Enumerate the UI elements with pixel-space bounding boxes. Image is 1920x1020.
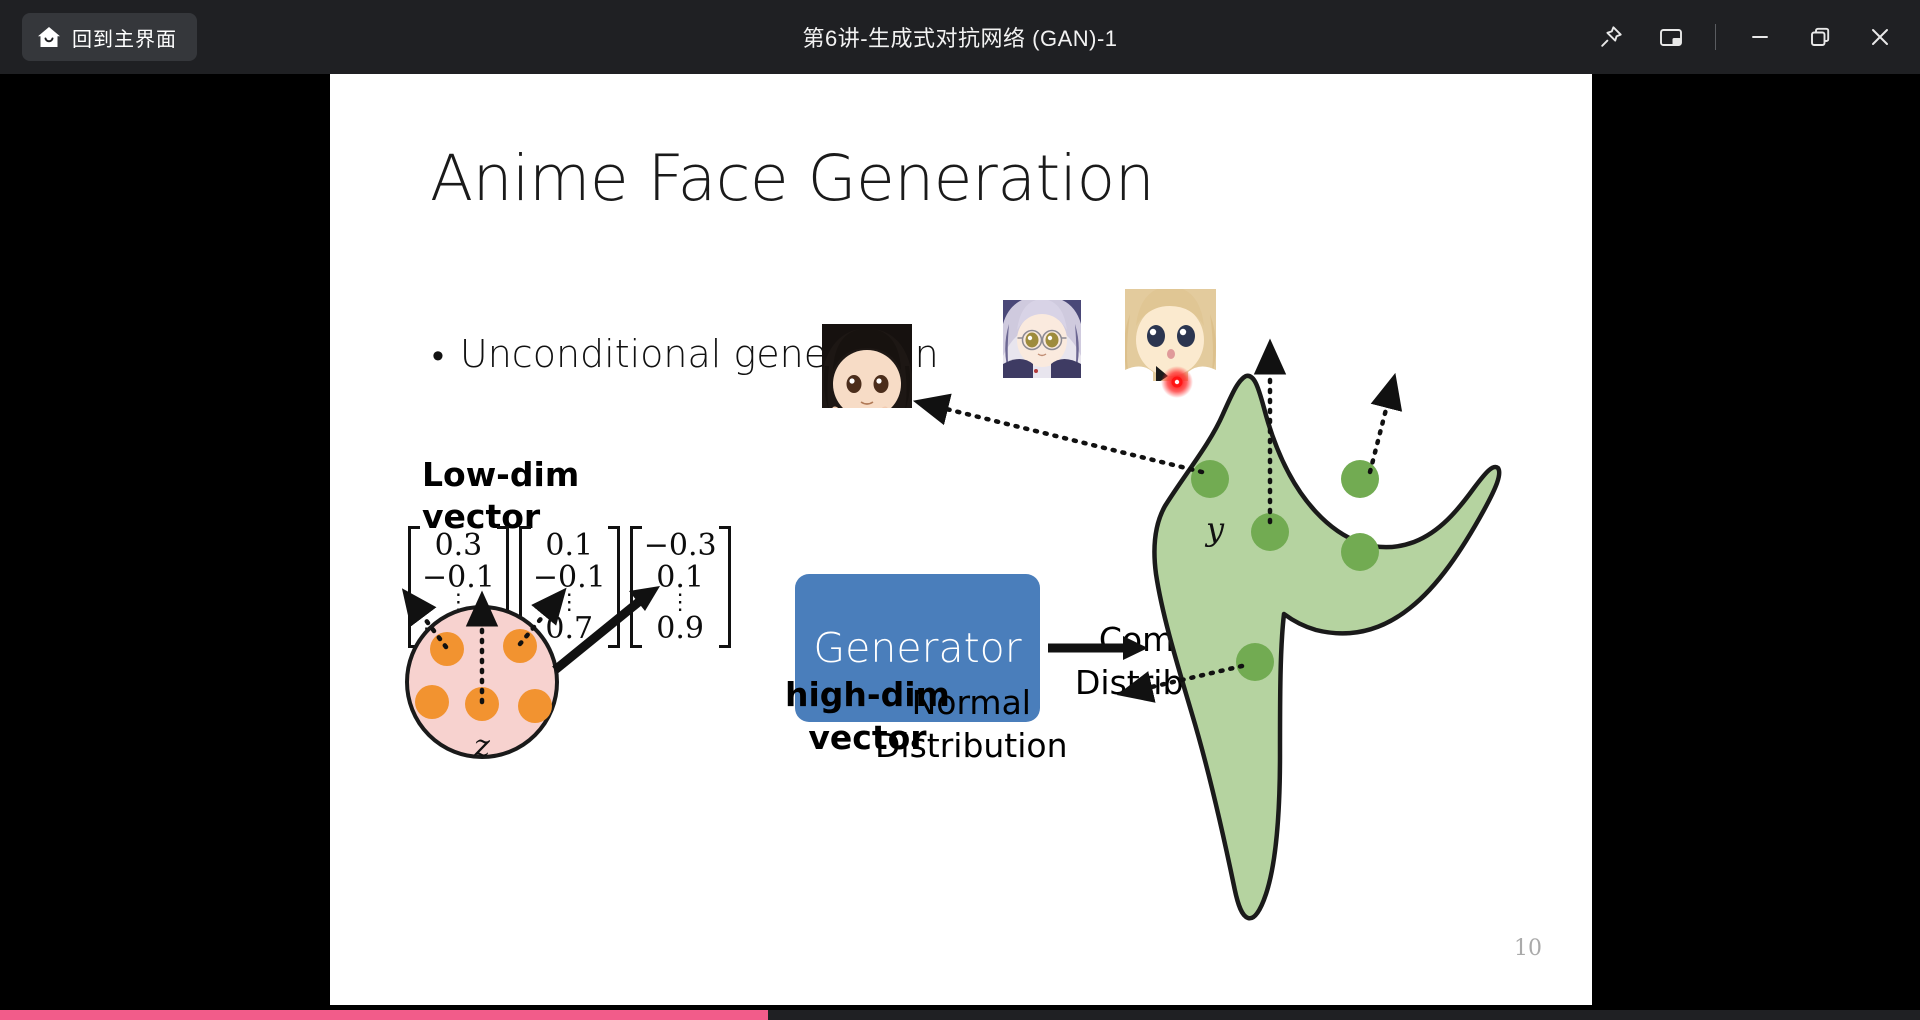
vector-3-value-1: −0.3 [644,530,717,562]
normal-sample-dot [415,685,449,719]
normal-sample-dot [518,689,552,723]
restore-icon[interactable] [1790,5,1850,69]
anime-face-thumb-2 [1003,296,1081,378]
vector-1-value-1: 0.3 [435,530,483,562]
close-icon[interactable] [1850,5,1910,69]
complex-sample-dot [1341,533,1379,571]
app-root: 回到主界面 第6讲-生成式对抗网络 (GAN)-1 [0,0,1920,1020]
latent-vector-3: −0.3 0.1 ⋮ 0.9 [630,526,731,648]
slide-bullet: • Unconditional generation [432,332,939,376]
slide-title: Anime Face Generation [430,142,1154,215]
latent-vector-group: 0.3 −0.1 ⋮ −0.7 0.1 −0.1 ⋮ 0.7 −0.3 0.1 … [408,526,731,648]
slide-viewport[interactable]: Anime Face Generation • Unconditional ge… [330,74,1592,1005]
home-button[interactable]: 回到主界面 [22,13,197,61]
slide-page-number: 10 [1514,936,1542,961]
high-dim-vector-label: high-dim vector [785,674,950,760]
vector-2-value-2: −0.1 [533,562,606,594]
vector-1-value-4: −0.7 [422,613,495,645]
normal-sample-dot [465,687,499,721]
minimize-icon[interactable] [1730,5,1790,69]
y-symbol-label: y [1204,510,1225,548]
vector-3-value-4: 0.9 [656,613,704,645]
complex-sample-dot [1251,513,1289,551]
bullet-text: Unconditional generation [460,332,939,376]
playback-progress-fill [0,1010,768,1020]
vector-1-value-3: ⋮ [447,593,469,613]
vector-2-value-4: 0.7 [545,613,593,645]
titlebar-separator [1715,24,1716,50]
complex-distribution-line-1: Complex [1075,619,1268,662]
vector-3-value-2: 0.1 [656,562,704,594]
vector-2-value-1: 0.1 [545,530,593,562]
picture-in-picture-icon[interactable] [1641,5,1701,69]
low-dim-line-1: Low-dim [422,454,579,496]
vector-2-value-3: ⋮ [558,593,580,613]
high-dim-line-1: high-dim [785,674,950,717]
window-controls [1581,0,1920,74]
laser-pointer-dot [1161,366,1193,398]
anime-face-thumb-3 [1124,286,1216,384]
home-button-label: 回到主界面 [72,23,177,52]
z-symbol-label: z [473,729,490,764]
latent-vector-1: 0.3 −0.1 ⋮ −0.7 [408,526,509,648]
home-icon [36,24,62,50]
playback-progress-track[interactable] [0,1010,1920,1020]
complex-sample-dot [1191,460,1229,498]
high-dim-line-2: vector [785,717,950,760]
window-titlebar: 回到主界面 第6讲-生成式对抗网络 (GAN)-1 [0,0,1920,74]
bullet-marker-icon: • [432,339,444,373]
complex-distribution-line-2: Distribution [1075,662,1268,705]
complex-sample-dot [1341,460,1379,498]
pin-icon[interactable] [1581,5,1641,69]
vector-1-value-2: −0.1 [422,562,495,594]
latent-vector-2: 0.1 −0.1 ⋮ 0.7 [519,526,620,648]
slide-canvas: Anime Face Generation • Unconditional ge… [330,74,1592,1005]
complex-distribution-label: Complex Distribution [1075,619,1268,705]
vector-3-value-3: ⋮ [669,593,691,613]
generator-label: Generator [813,624,1021,672]
